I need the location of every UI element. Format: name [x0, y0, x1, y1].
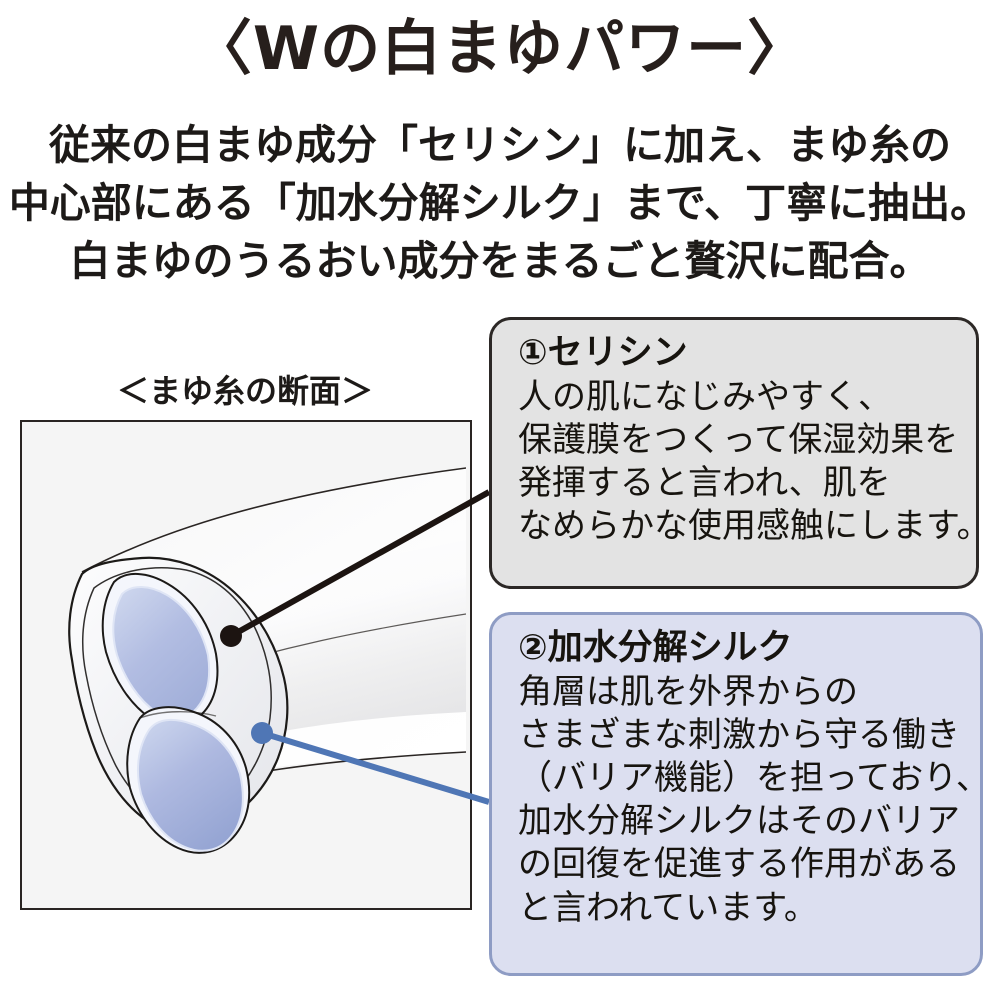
- callout-hydrolyzed-silk-line-2: さまざまな刺激から守る働き: [518, 714, 966, 757]
- lede-line-3: 白まゆのうるおい成分をまるごと贅沢に配合。: [0, 232, 1000, 290]
- callout-hydrolyzed-silk: ②加水分解シルク 角層は肌を外界からの さまざまな刺激から守る働き （バリア機能…: [489, 612, 983, 976]
- callout-hydrolyzed-silk-line-4: 加水分解シルクはそのバリア: [518, 800, 966, 843]
- callout-hydrolyzed-silk-line-3: （バリア機能）を担っており、: [518, 757, 966, 800]
- lede-line-1: 従来の白まゆ成分「セリシン」に加え、まゆ糸の: [0, 116, 1000, 174]
- callout-sericin-line-1: 人の肌になじみやすく、: [518, 376, 962, 419]
- lede-line-2: 中心部にある「加水分解シルク」まで、丁寧に抽出。: [0, 174, 1000, 232]
- infographic-page: 〈Wの白まゆパワー〉 従来の白まゆ成分「セリシン」に加え、まゆ糸の 中心部にある…: [0, 0, 1000, 1000]
- page-title: 〈Wの白まゆパワー〉: [0, 18, 1000, 81]
- callout-sericin-heading: ①セリシン: [518, 332, 962, 376]
- callout-sericin-line-2: 保護膜をつくって保湿効果を: [518, 419, 962, 462]
- callout-sericin-body: 人の肌になじみやすく、 保護膜をつくって保湿効果を 発揮すると言われ、肌を なめ…: [518, 376, 962, 549]
- callout-hydrolyzed-silk-line-6: と言われています。: [518, 887, 966, 930]
- callout-hydrolyzed-silk-line-1: 角層は肌を外界からの: [518, 671, 966, 714]
- callout-hydrolyzed-silk-line-5: の回復を促進する作用がある: [518, 843, 966, 886]
- callout-sericin: ①セリシン 人の肌になじみやすく、 保護膜をつくって保湿効果を 発揮すると言われ…: [489, 317, 979, 589]
- callout-sericin-line-3: 発揮すると言われ、肌を: [518, 462, 962, 505]
- silk-fiber-cross-section-diagram: [20, 420, 472, 910]
- silk-fiber-illustration: [22, 422, 466, 904]
- callout-hydrolyzed-silk-heading: ②加水分解シルク: [518, 627, 966, 671]
- callout-sericin-line-4: なめらかな使用感触にします。: [518, 505, 962, 548]
- diagram-caption: ＜まゆ糸の断面＞: [20, 366, 470, 412]
- callout-hydrolyzed-silk-body: 角層は肌を外界からの さまざまな刺激から守る働き （バリア機能）を担っており、 …: [518, 671, 966, 930]
- lede-paragraph: 従来の白まゆ成分「セリシン」に加え、まゆ糸の 中心部にある「加水分解シルク」まで…: [0, 116, 1000, 291]
